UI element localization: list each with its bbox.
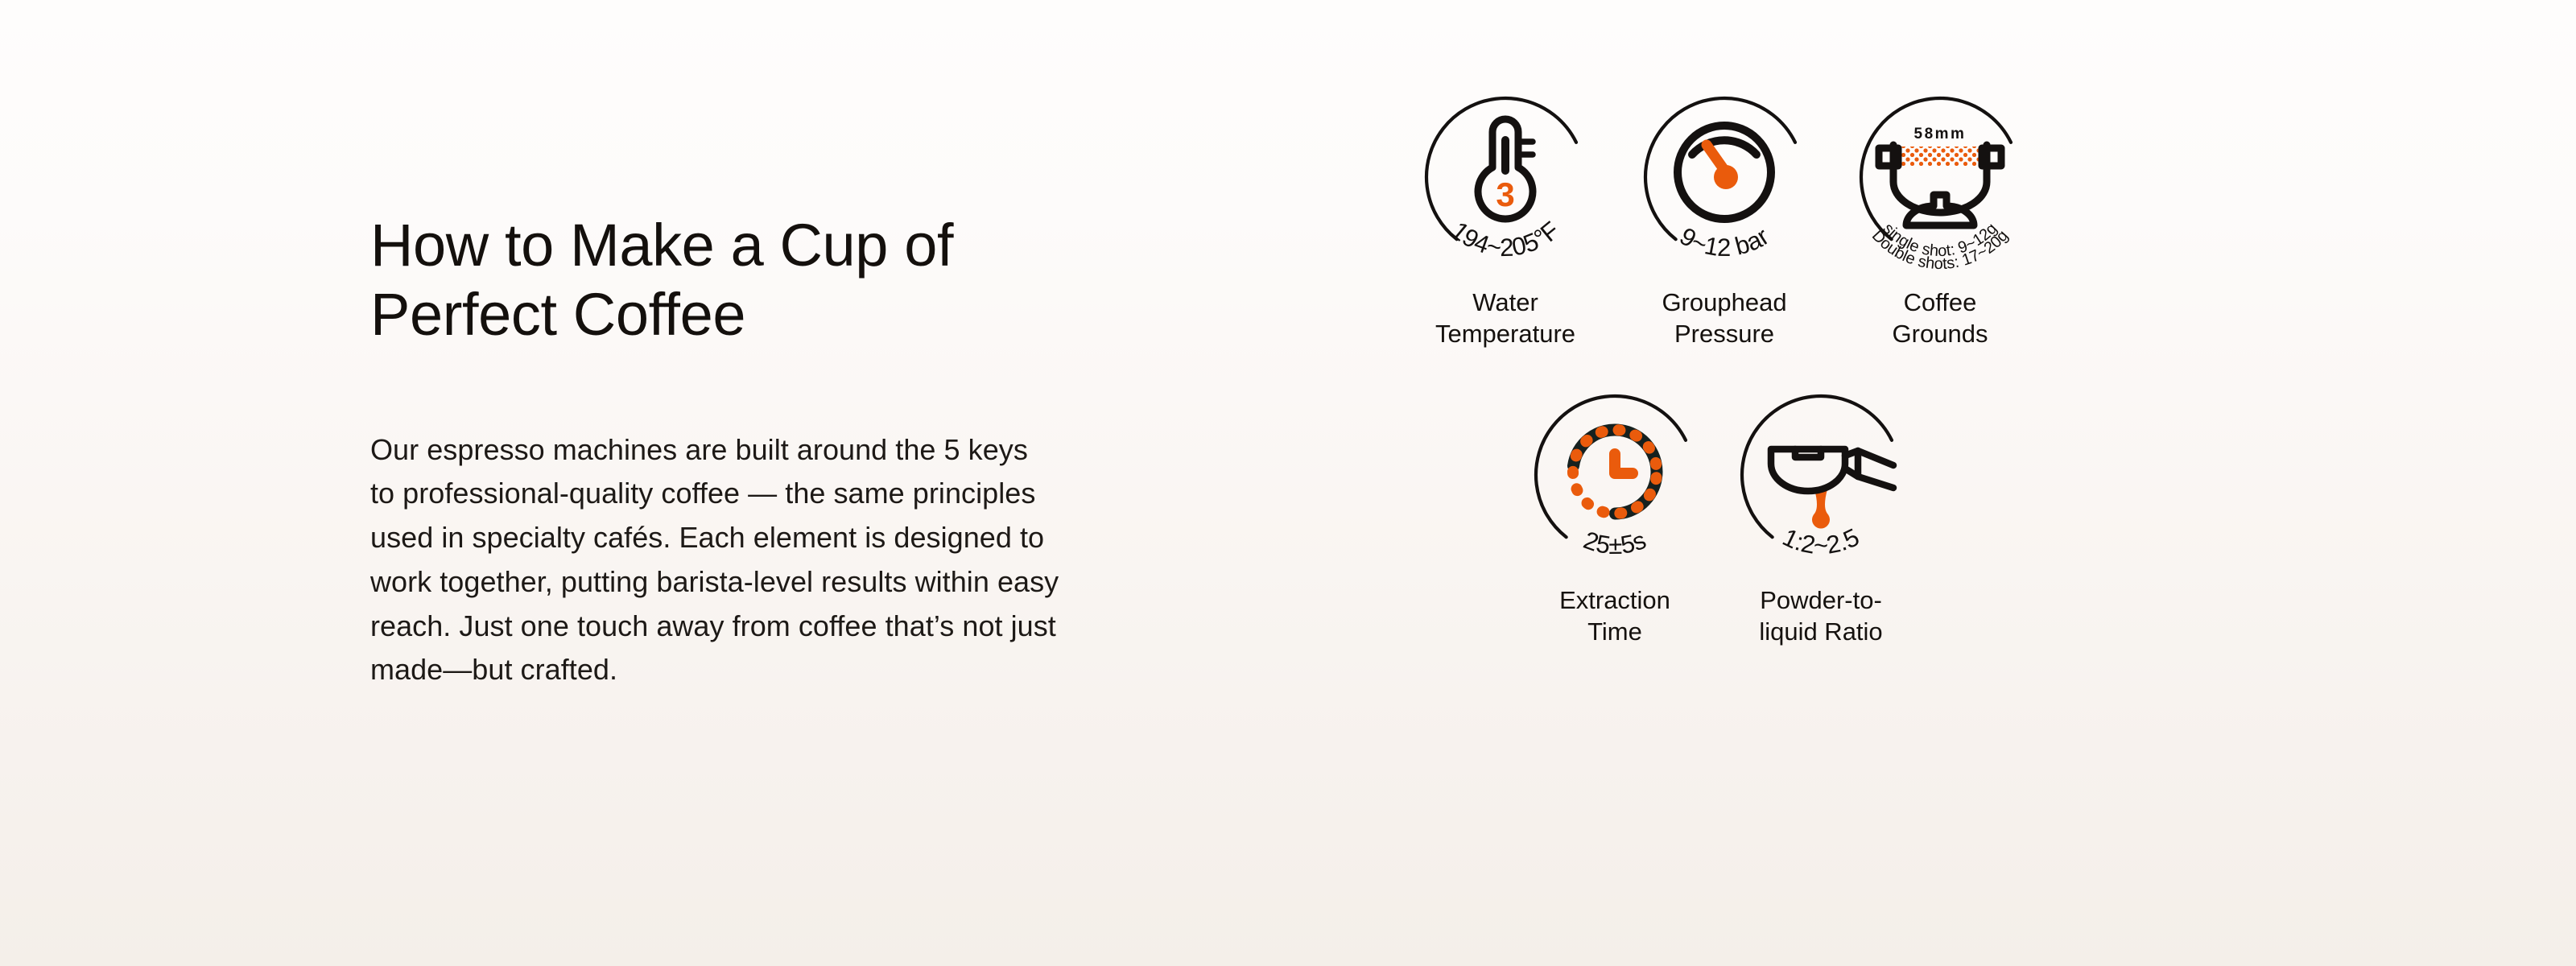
key-specs-grid: 3 194~205°F Water Temperature [1368, 77, 2495, 753]
spec-card-coffee-grounds[interactable]: 58mm single shot: 9~12g [1819, 77, 2061, 349]
intro-paragraph: Our espresso machines are built around t… [370, 428, 1111, 692]
portafilter-drip-icon [1771, 449, 1893, 529]
spec-card-extraction-time[interactable]: 25±5s Extraction Time [1494, 375, 1736, 647]
basket-diameter-label: 58mm [1914, 126, 1967, 142]
badge-ring-extraction-time: 25±5s [1518, 375, 1711, 576]
badge-ring-water-temperature: 3 194~205°F [1409, 77, 1602, 279]
spec-caption-grouphead-pressure: Grouphead Pressure [1604, 287, 1845, 349]
poster-canvas: How to Make a Cup of Perfect Coffee Our … [0, 0, 2576, 966]
spec-caption-powder-to-liquid-ratio: Powder-to- liquid Ratio [1700, 584, 1942, 647]
pressure-gauge-icon [1678, 126, 1771, 219]
spec-card-water-temperature[interactable]: 3 194~205°F Water Temperature [1385, 77, 1626, 349]
arc-label-extraction-time: 25±5s [1580, 526, 1650, 559]
timer-icon [1567, 424, 1662, 518]
spec-caption-extraction-time: Extraction Time [1494, 584, 1736, 647]
intro-copy-block: How to Make a Cup of Perfect Coffee Our … [370, 211, 1127, 692]
spec-caption-coffee-grounds: Coffee Grounds [1819, 287, 2061, 349]
spec-card-powder-to-liquid-ratio[interactable]: 1:2~2.5 Powder-to- liquid Ratio [1700, 375, 1942, 647]
arc-label-grouphead-pressure: 9~12 bar [1674, 222, 1773, 262]
badge-ring-coffee-grounds: 58mm single shot: 9~12g [1843, 77, 2037, 279]
portafilter-basket-icon [1879, 145, 2001, 225]
page-title: How to Make a Cup of Perfect Coffee [370, 211, 1127, 349]
spec-caption-water-temperature: Water Temperature [1385, 287, 1626, 349]
badge-ring-grouphead-pressure: 9~12 bar [1628, 77, 1821, 279]
thermometer-value: 3 [1496, 175, 1514, 213]
spec-card-grouphead-pressure[interactable]: 9~12 bar Grouphead Pressure [1604, 77, 1845, 349]
arc-label-water-temperature: 194~205°F [1446, 216, 1564, 262]
badge-ring-powder-to-liquid-ratio: 1:2~2.5 [1724, 375, 1918, 576]
